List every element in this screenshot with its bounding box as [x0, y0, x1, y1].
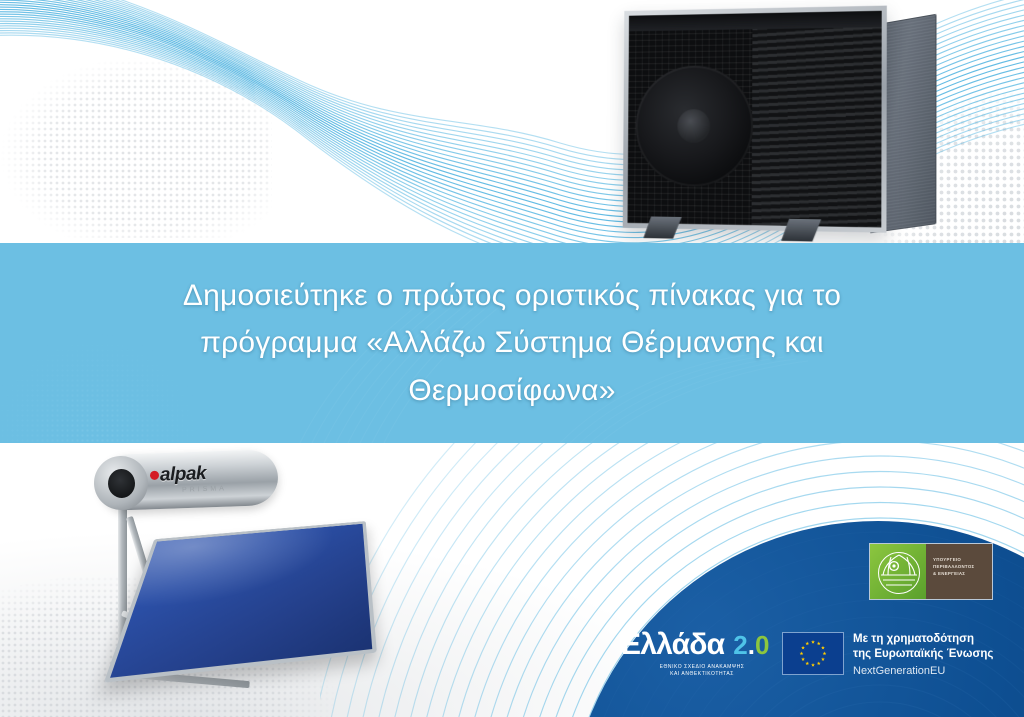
headline-line-2: πρόγραμμα «Αλλάζω Σύστημα Θέρμανσης και: [72, 319, 952, 366]
headline-line-1: Δημοσιεύτηκε ο πρώτος οριστικός πίνακας …: [72, 272, 952, 319]
page-headline: Δημοσιεύτηκε ο πρώτος οριστικός πίνακας …: [72, 272, 952, 414]
eu-flag-icon: [782, 632, 844, 675]
ministry-line-2: ΠΕΡΙΒΑΛΛΟΝΤΟΣ: [933, 564, 992, 571]
calpak-brand-text: alpak: [160, 463, 207, 486]
promo-banner: alpak PRISMA: [0, 0, 1024, 717]
headline-line-3: Θερμοσίφωνα»: [72, 367, 952, 414]
ministry-logo-text: ΥΠΟΥΡΓΕΙΟ ΠΕΡΙΒΑΛΛΟΝΤΟΣ & ΕΝΕΡΓΕΙΑΣ: [926, 544, 992, 599]
ellada-zero: 0: [755, 630, 769, 660]
ministry-line-1: ΥΠΟΥΡΓΕΙΟ: [933, 557, 992, 564]
heat-pump-fan-hub: [677, 109, 710, 143]
heat-pump-feet: [636, 216, 868, 244]
ministry-logo: ΥΠΟΥΡΓΕΙΟ ΠΕΡΙΒΑΛΛΟΝΤΟΣ & ΕΝΕΡΓΕΙΑΣ: [869, 543, 993, 600]
heat-pump-front-panel: [623, 6, 887, 233]
eu-funding-line-2: της Ευρωπαϊκής Ένωσης: [853, 647, 993, 662]
calpak-brand-logo: alpak: [150, 463, 207, 487]
heat-pump-product-image: [623, 6, 889, 243]
eu-funding-line-1: Με τη χρηματοδότηση: [853, 632, 993, 647]
solar-water-heater-product-image: alpak PRISMA: [78, 448, 378, 684]
ellada-two: 2: [733, 630, 747, 660]
ellada-subtitle-line-2: ΚΑΙ ΑΝΘΕΚΤΙΚΟΤΗΤΑΣ: [621, 671, 773, 678]
ellada-subtitle-line-1: ΕΘΝΙΚΟ ΣΧΕΔΙΟ ΑΝΑΚΑΜΨΗΣ: [621, 664, 773, 671]
heat-pump-fan: [635, 65, 753, 187]
heat-pump-louvres: [752, 11, 882, 228]
globe-icon: [878, 552, 920, 594]
heat-pump-top-strip: [629, 11, 882, 32]
ministry-line-3: & ΕΝΕΡΓΕΙΑΣ: [933, 571, 992, 578]
headline-band: Δημοσιεύτηκε ο πρώτος οριστικός πίνακας …: [0, 243, 1024, 443]
ellada-dot: .: [748, 630, 755, 660]
eu-funding-block: Με τη χρηματοδότηση της Ευρωπαϊκής Ένωση…: [782, 632, 993, 679]
eu-funding-line-3: NextGenerationEU: [853, 663, 993, 680]
heat-pump-grille: [627, 13, 752, 225]
ellada-wordmark: Ελλάδα: [621, 630, 724, 660]
ellada-2-0-logo: Ελλάδα2.0 ΕΘΝΙΚΟ ΣΧΕΔΙΟ ΑΝΑΚΑΜΨΗΣ ΚΑΙ ΑΝ…: [621, 630, 773, 686]
calpak-logo-dot: [150, 471, 159, 480]
eu-funding-text: Με τη χρηματοδότηση της Ευρωπαϊκής Ένωση…: [853, 632, 993, 679]
ministry-logo-emblem: [870, 544, 926, 599]
